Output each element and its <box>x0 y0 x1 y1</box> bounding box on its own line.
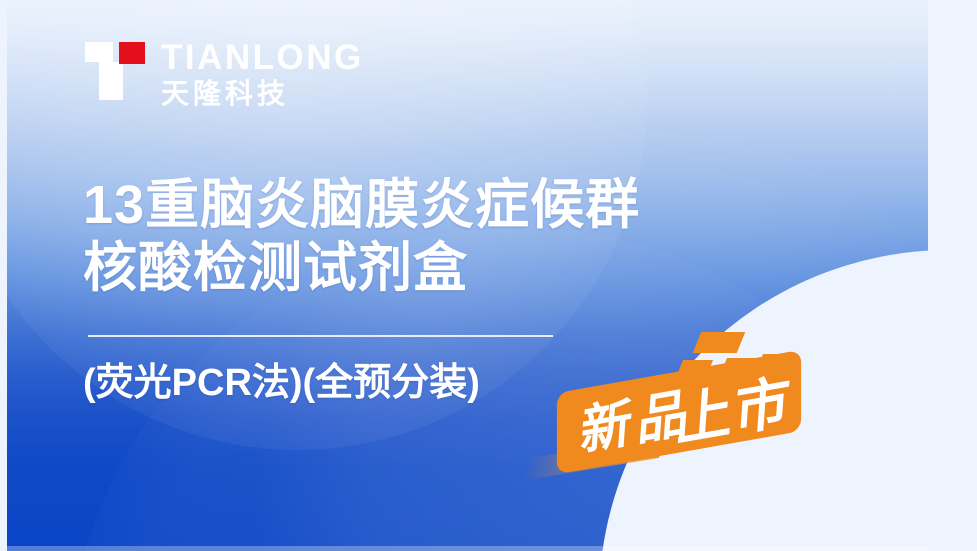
tianlong-t-mark-icon <box>83 36 147 106</box>
blue-gradient-panel: TIANLONG 天隆科技 13重脑炎脑膜炎症候群 核酸检测试剂盒 (荧光PCR… <box>7 0 928 551</box>
headline-line-2: 核酸检测试剂盒 <box>83 237 783 300</box>
new-product-badge: 新品 上市 <box>527 330 887 505</box>
bottom-light-band <box>7 546 928 551</box>
brand-name-en: TIANLONG <box>161 40 364 76</box>
badge-spark-icon-2 <box>693 332 745 353</box>
headline-line-1: 13重脑炎脑膜炎症候群 <box>83 174 783 237</box>
headline-divider <box>88 335 553 337</box>
headline-block: 13重脑炎脑膜炎症候群 核酸检测试剂盒 <box>83 174 783 300</box>
brand-wordmark: TIANLONG 天隆科技 <box>161 36 364 110</box>
promo-banner: TIANLONG 天隆科技 13重脑炎脑膜炎症候群 核酸检测试剂盒 (荧光PCR… <box>0 0 977 551</box>
brand-name-cn: 天隆科技 <box>161 78 364 110</box>
brand-logo: TIANLONG 天隆科技 <box>83 36 364 110</box>
subtitle-text: (荧光PCR法)(全预分装) <box>83 358 480 408</box>
